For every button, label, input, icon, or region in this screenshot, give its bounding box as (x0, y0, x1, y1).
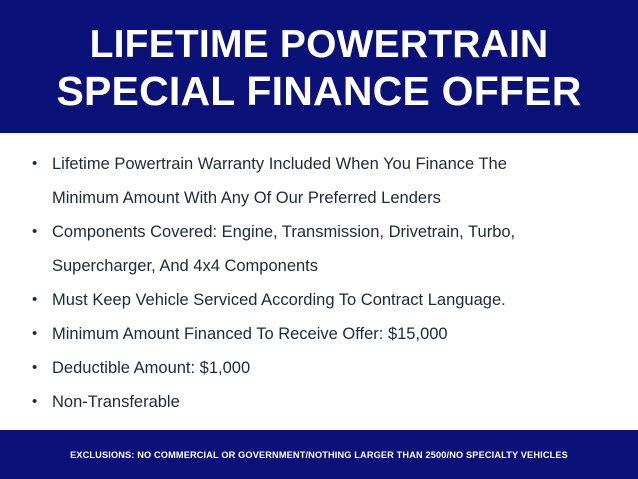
page-title-line-1: LIFETIME POWERTRAIN (90, 22, 549, 68)
list-item: • Must Keep Vehicle Serviced According T… (16, 283, 622, 317)
bullet-icon: • (32, 317, 37, 351)
list-item: • Non-Transferable (16, 385, 622, 419)
list-item-line: Minimum Amount With Any Of Our Preferred… (52, 181, 622, 215)
promo-slide: LIFETIME POWERTRAIN SPECIAL FINANCE OFFE… (0, 0, 638, 479)
list-item-line: Minimum Amount Financed To Receive Offer… (52, 317, 622, 351)
bullet-icon: • (32, 283, 37, 317)
list-item-line: Components Covered: Engine, Transmission… (52, 215, 622, 249)
offer-bullet-list: • Lifetime Powertrain Warranty Included … (16, 147, 622, 419)
list-item-line: Must Keep Vehicle Serviced According To … (52, 283, 622, 317)
exclusions-text: EXCLUSIONS: NO COMMERCIAL OR GOVERNMENT/… (70, 450, 568, 460)
list-item: • Components Covered: Engine, Transmissi… (16, 215, 622, 283)
list-item-line: Lifetime Powertrain Warranty Included Wh… (52, 147, 622, 181)
list-item: • Lifetime Powertrain Warranty Included … (16, 147, 622, 215)
bullet-icon: • (32, 385, 37, 419)
exclusions-banner: EXCLUSIONS: NO COMMERCIAL OR GOVERNMENT/… (0, 430, 638, 479)
bullet-icon: • (32, 147, 37, 181)
list-item: • Deductible Amount: $1,000 (16, 351, 622, 385)
header-banner: LIFETIME POWERTRAIN SPECIAL FINANCE OFFE… (0, 0, 638, 133)
bullet-icon: • (32, 215, 37, 249)
list-item: • Minimum Amount Financed To Receive Off… (16, 317, 622, 351)
list-item-line: Supercharger, And 4x4 Components (52, 249, 622, 283)
bullet-icon: • (32, 351, 37, 385)
list-item-line: Non-Transferable (52, 385, 622, 419)
offer-details-body: • Lifetime Powertrain Warranty Included … (0, 133, 638, 430)
page-title-line-2: SPECIAL FINANCE OFFER (56, 68, 581, 114)
list-item-line: Deductible Amount: $1,000 (52, 351, 622, 385)
